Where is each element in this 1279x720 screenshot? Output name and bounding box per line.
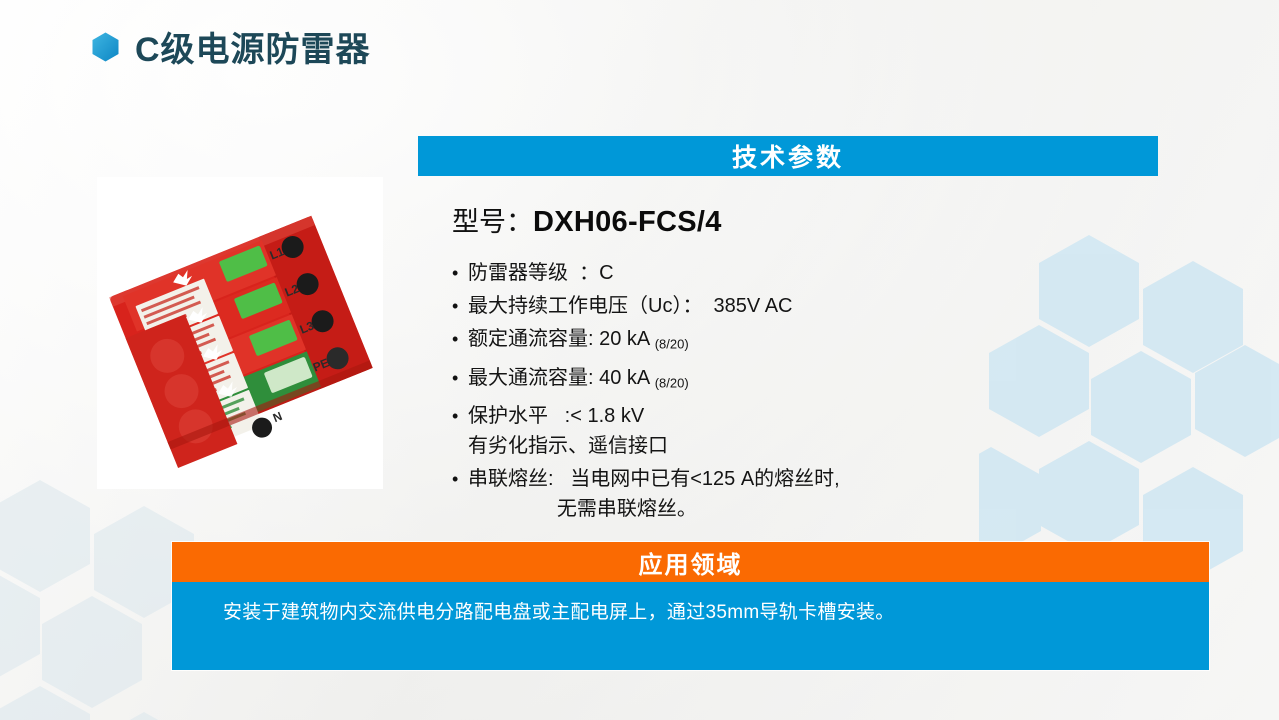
surge-protector-illustration: L1 L2 L3 PE N [97,177,383,489]
spec-subscript: (8/20) [655,337,689,352]
bullet-icon: • [452,401,468,431]
spec-item: • 最大持续工作电压（Uc）： 385V AC [452,291,1152,321]
spec-item: • 串联熔丝: 当电网中已有<125 A的熔丝时, 无需串联熔丝。 [452,464,1152,524]
spec-body: 防雷器等级 ：C [468,258,1152,288]
spec-body: 保护水平 :< 1.8 kV 有劣化指示、遥信接口 [468,401,1152,461]
spec-body: 最大通流容量: 40 kA (8/20) [468,363,1152,399]
application-header-label: 应用领域 [639,545,743,580]
spec-text: 最大持续工作电压（Uc）： 385V AC [468,295,793,317]
tech-params-header: 技术参数 [418,136,1158,176]
page-title: C级电源防雷器 [135,22,371,71]
tech-params-header-label: 技术参数 [732,138,844,174]
spec-text-continued: 无需串联熔丝。 [468,494,1152,524]
application-body: 安装于建筑物内交流供电分路配电盘或主配电屏上，通过35mm导轨卡槽安装。 [172,582,1209,670]
spec-item: • 最大通流容量: 40 kA (8/20) [452,363,1152,399]
spec-text: 保护水平 :< 1.8 kV [468,405,644,427]
product-photo: L1 L2 L3 PE N [97,177,383,489]
spec-text: 防雷器等级 ：C [468,262,614,284]
spec-item: • 保护水平 :< 1.8 kV 有劣化指示、遥信接口 [452,401,1152,461]
bullet-icon: • [452,291,468,321]
spec-text: 最大通流容量: 40 kA [468,367,655,389]
application-body-text: 安装于建筑物内交流供电分路配电盘或主配电屏上，通过35mm导轨卡槽安装。 [223,602,895,623]
bullet-icon: • [452,324,468,354]
spec-subscript: (8/20) [655,375,689,390]
model-line: 型号： DXH06-FCS/4 [452,200,722,239]
spec-text: 串联熔丝: 当电网中已有<125 A的熔丝时, [468,468,840,490]
spec-list: • 防雷器等级 ：C • 最大持续工作电压（Uc）： 385V AC • 额定通… [452,258,1152,527]
spec-item: • 防雷器等级 ：C [452,258,1152,288]
spec-text-continued: 有劣化指示、遥信接口 [468,431,1152,461]
spec-body: 串联熔丝: 当电网中已有<125 A的熔丝时, 无需串联熔丝。 [468,464,1152,524]
model-value: DXH06-FCS/4 [533,206,722,239]
bullet-icon: • [452,464,468,494]
application-panel: 应用领域 安装于建筑物内交流供电分路配电盘或主配电屏上，通过35mm导轨卡槽安装… [172,542,1209,670]
bullet-icon: • [452,363,468,393]
page-header: C级电源防雷器 [92,22,371,71]
model-label: 型号： [452,200,533,239]
hexagon-icon [92,32,119,62]
slide-canvas: C级电源防雷器 [0,0,1279,720]
spec-body: 最大持续工作电压（Uc）： 385V AC [468,291,1152,321]
spec-item: • 额定通流容量: 20 kA (8/20) [452,324,1152,360]
application-header: 应用领域 [172,542,1209,582]
spec-text: 额定通流容量: 20 kA [468,328,655,350]
spec-body: 额定通流容量: 20 kA (8/20) [468,324,1152,360]
bullet-icon: • [452,258,468,288]
